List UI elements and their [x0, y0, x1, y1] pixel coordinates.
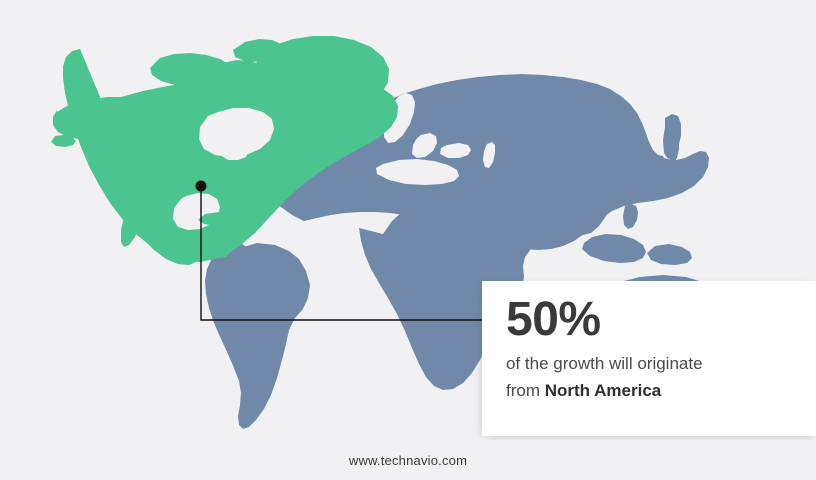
callout-description: of the growth will originate from North …	[506, 351, 816, 404]
callout-line-2: from North America	[506, 378, 816, 404]
callout-line-1: of the growth will originate	[506, 351, 816, 377]
callout-region-name: North America	[545, 381, 662, 400]
statistic-callout-card: 50% of the growth will originate from No…	[482, 281, 816, 436]
callout-percentage: 50%	[506, 295, 816, 345]
callout-line-2-prefix: from	[506, 381, 545, 400]
footer-bar: www.technavio.com	[0, 440, 816, 480]
infographic-root: 50% of the growth will originate from No…	[0, 0, 816, 480]
footer-url-text: www.technavio.com	[349, 453, 467, 468]
